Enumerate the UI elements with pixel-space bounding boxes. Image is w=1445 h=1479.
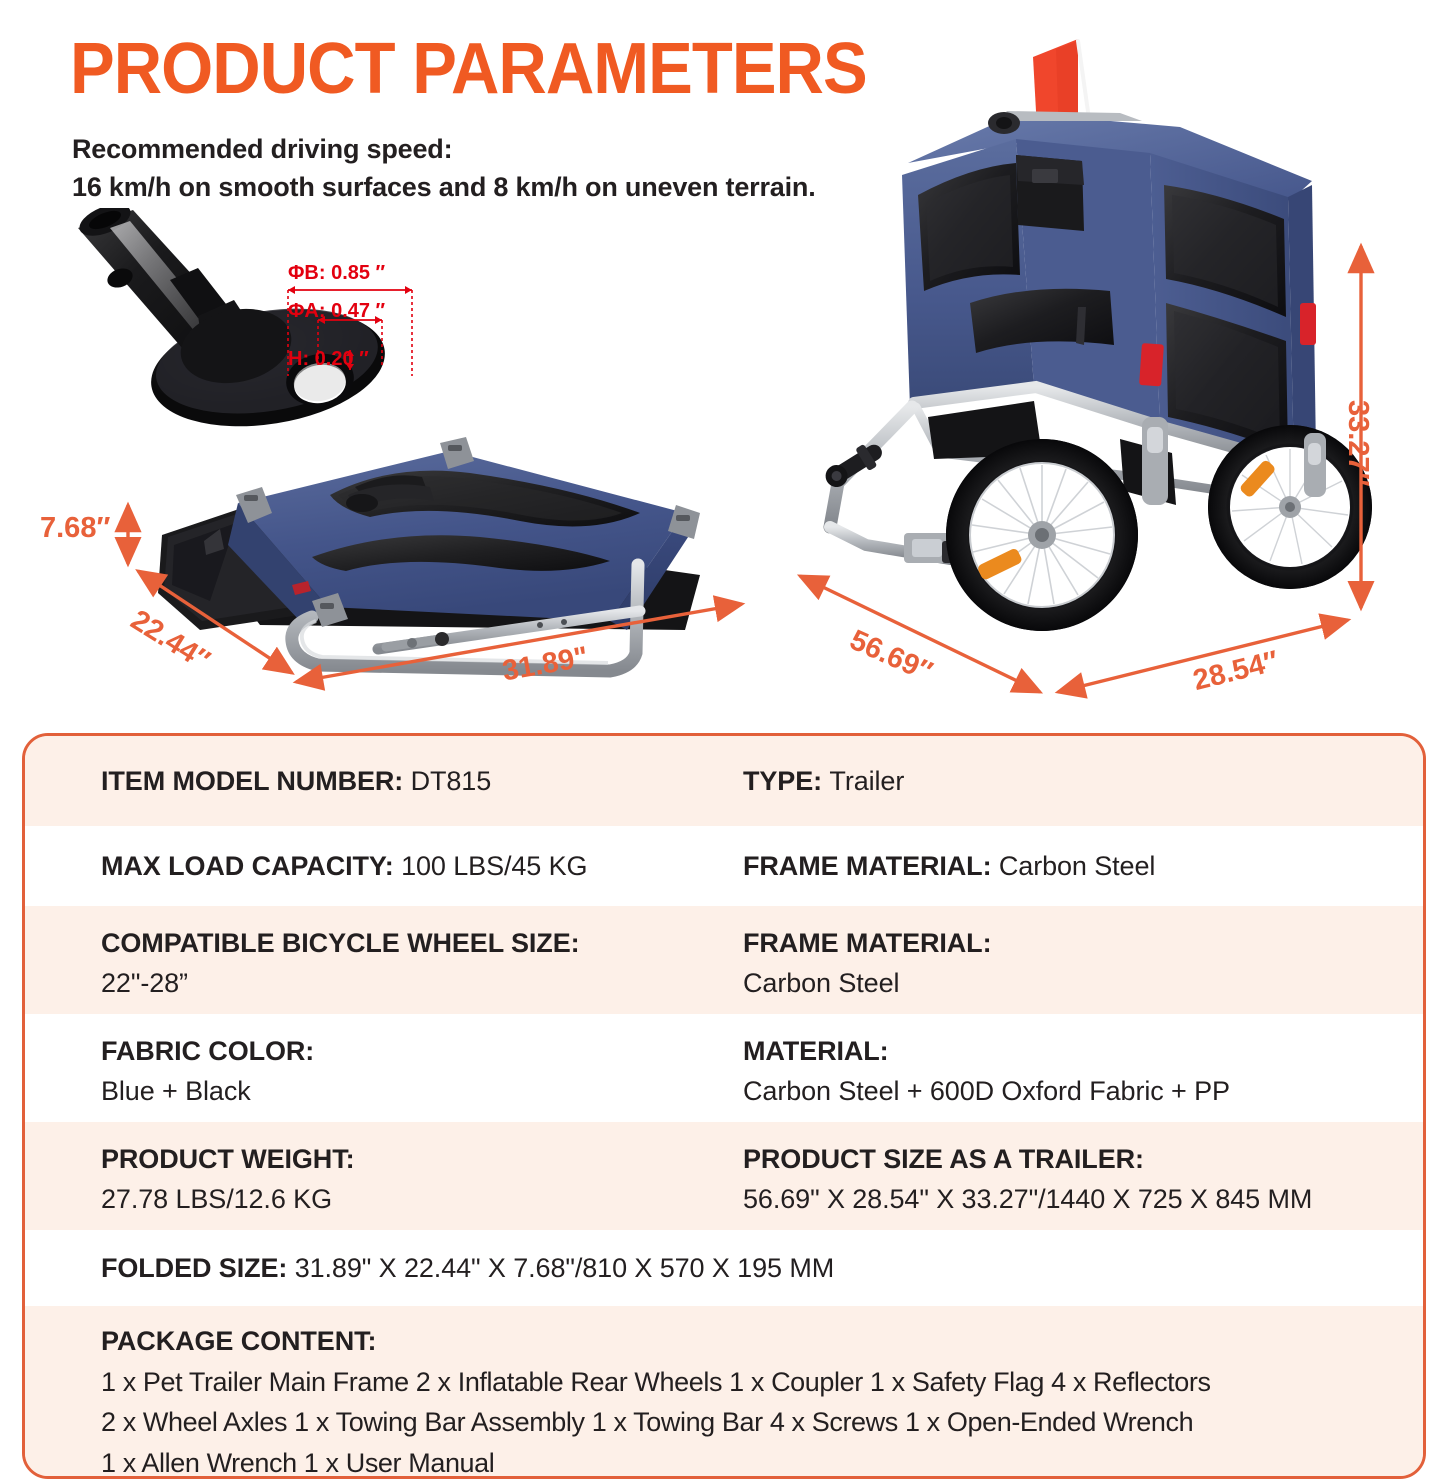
spec-value: Carbon Steel (999, 851, 1155, 881)
spec-cell: FRAME MATERIAL: Carbon Steel (685, 851, 1423, 882)
spec-cell: PACKAGE CONTENT: 1 x Pet Trailer Main Fr… (25, 1322, 1423, 1479)
spec-label: FRAME MATERIAL: (743, 851, 999, 881)
speed-note-line-2: 16 km/h on smooth surfaces and 8 km/h on… (72, 168, 816, 206)
spec-label: PRODUCT WEIGHT: (101, 1140, 685, 1180)
table-row: FABRIC COLOR: Blue + Black MATERIAL: Car… (25, 1014, 1423, 1122)
spec-label: FABRIC COLOR: (101, 1032, 685, 1072)
spec-label: COMPATIBLE BICYCLE WHEEL SIZE: (101, 924, 685, 964)
spec-value: Carbon Steel + 600D Oxford Fabric + PP (743, 1072, 1423, 1112)
spec-label: PRODUCT SIZE AS A TRAILER: (743, 1140, 1423, 1180)
spec-cell: MAX LOAD CAPACITY: 100 LBS/45 KG (25, 851, 685, 882)
spec-value: Trailer (829, 766, 904, 796)
folded-trailer-image (140, 425, 740, 680)
coupler-h-label: H: 0.20 ″ (288, 348, 369, 371)
spec-label: FRAME MATERIAL: (743, 924, 1423, 964)
spec-cell: COMPATIBLE BICYCLE WHEEL SIZE: 22"-28” (25, 924, 685, 1004)
table-row-package-content: PACKAGE CONTENT: 1 x Pet Trailer Main Fr… (25, 1306, 1423, 1476)
spec-label: MATERIAL: (743, 1032, 1423, 1072)
spec-cell: PRODUCT SIZE AS A TRAILER: 56.69" X 28.5… (685, 1140, 1423, 1220)
recommended-speed-note: Recommended driving speed: 16 km/h on sm… (72, 130, 816, 207)
spec-cell: TYPE: Trailer (685, 766, 1423, 797)
spec-cell: ITEM MODEL NUMBER: DT815 (25, 766, 685, 797)
package-content-label: PACKAGE CONTENT: (101, 1322, 1423, 1362)
spec-value: 56.69" X 28.54" X 33.27"/1440 X 725 X 84… (743, 1180, 1423, 1220)
coupler-phi-b-label: ΦB: 0.85 ″ (288, 262, 385, 285)
spec-label: MAX LOAD CAPACITY: (101, 851, 401, 881)
speed-note-line-1: Recommended driving speed: (72, 130, 816, 168)
product-parameters-page: PRODUCT PARAMETERS Recommended driving s… (0, 0, 1445, 1445)
package-content-line: 2 x Wheel Axles 1 x Towing Bar Assembly … (101, 1402, 1423, 1443)
spec-value: 100 LBS/45 KG (401, 851, 587, 881)
table-row: COMPATIBLE BICYCLE WHEEL SIZE: 22"-28” F… (25, 906, 1423, 1014)
table-row-folded-size: FOLDED SIZE: 31.89" X 22.44" X 7.68"/810… (25, 1230, 1423, 1306)
spec-cell: FABRIC COLOR: Blue + Black (25, 1032, 685, 1112)
spec-value: DT815 (411, 766, 492, 796)
package-content-line: 1 x Allen Wrench 1 x User Manual (101, 1443, 1423, 1479)
coupler-phi-a-label: ΦA: 0.47 ″ (288, 300, 385, 323)
spec-value: 27.78 LBS/12.6 KG (101, 1180, 685, 1220)
table-row: PRODUCT WEIGHT: 27.78 LBS/12.6 KG PRODUC… (25, 1122, 1423, 1230)
specification-table: ITEM MODEL NUMBER: DT815 TYPE: Trailer M… (22, 733, 1426, 1479)
spec-cell: PRODUCT WEIGHT: 27.78 LBS/12.6 KG (25, 1140, 685, 1220)
spec-cell: MATERIAL: Carbon Steel + 600D Oxford Fab… (685, 1032, 1423, 1112)
spec-value: 22"-28” (101, 964, 685, 1004)
spec-value: Blue + Black (101, 1072, 685, 1112)
spec-cell: FOLDED SIZE: 31.89" X 22.44" X 7.68"/810… (25, 1253, 1423, 1284)
table-row: ITEM MODEL NUMBER: DT815 TYPE: Trailer (25, 736, 1423, 826)
spec-value: 31.89" X 22.44" X 7.68"/810 X 570 X 195 … (295, 1253, 834, 1283)
folded-height-label: 7.68″ (40, 512, 110, 545)
page-title: PRODUCT PARAMETERS (70, 33, 867, 105)
spec-label: ITEM MODEL NUMBER: (101, 766, 411, 796)
spec-cell: FRAME MATERIAL: Carbon Steel (685, 924, 1423, 1004)
spec-value: Carbon Steel (743, 964, 1423, 1004)
spec-label: FOLDED SIZE: (101, 1253, 295, 1283)
spec-label: TYPE: (743, 766, 829, 796)
table-row: MAX LOAD CAPACITY: 100 LBS/45 KG FRAME M… (25, 826, 1423, 906)
assembled-trailer-image (820, 35, 1380, 655)
package-content-line: 1 x Pet Trailer Main Frame 2 x Inflatabl… (101, 1362, 1423, 1403)
trailer-height-label: 33.27″ (1341, 400, 1374, 486)
